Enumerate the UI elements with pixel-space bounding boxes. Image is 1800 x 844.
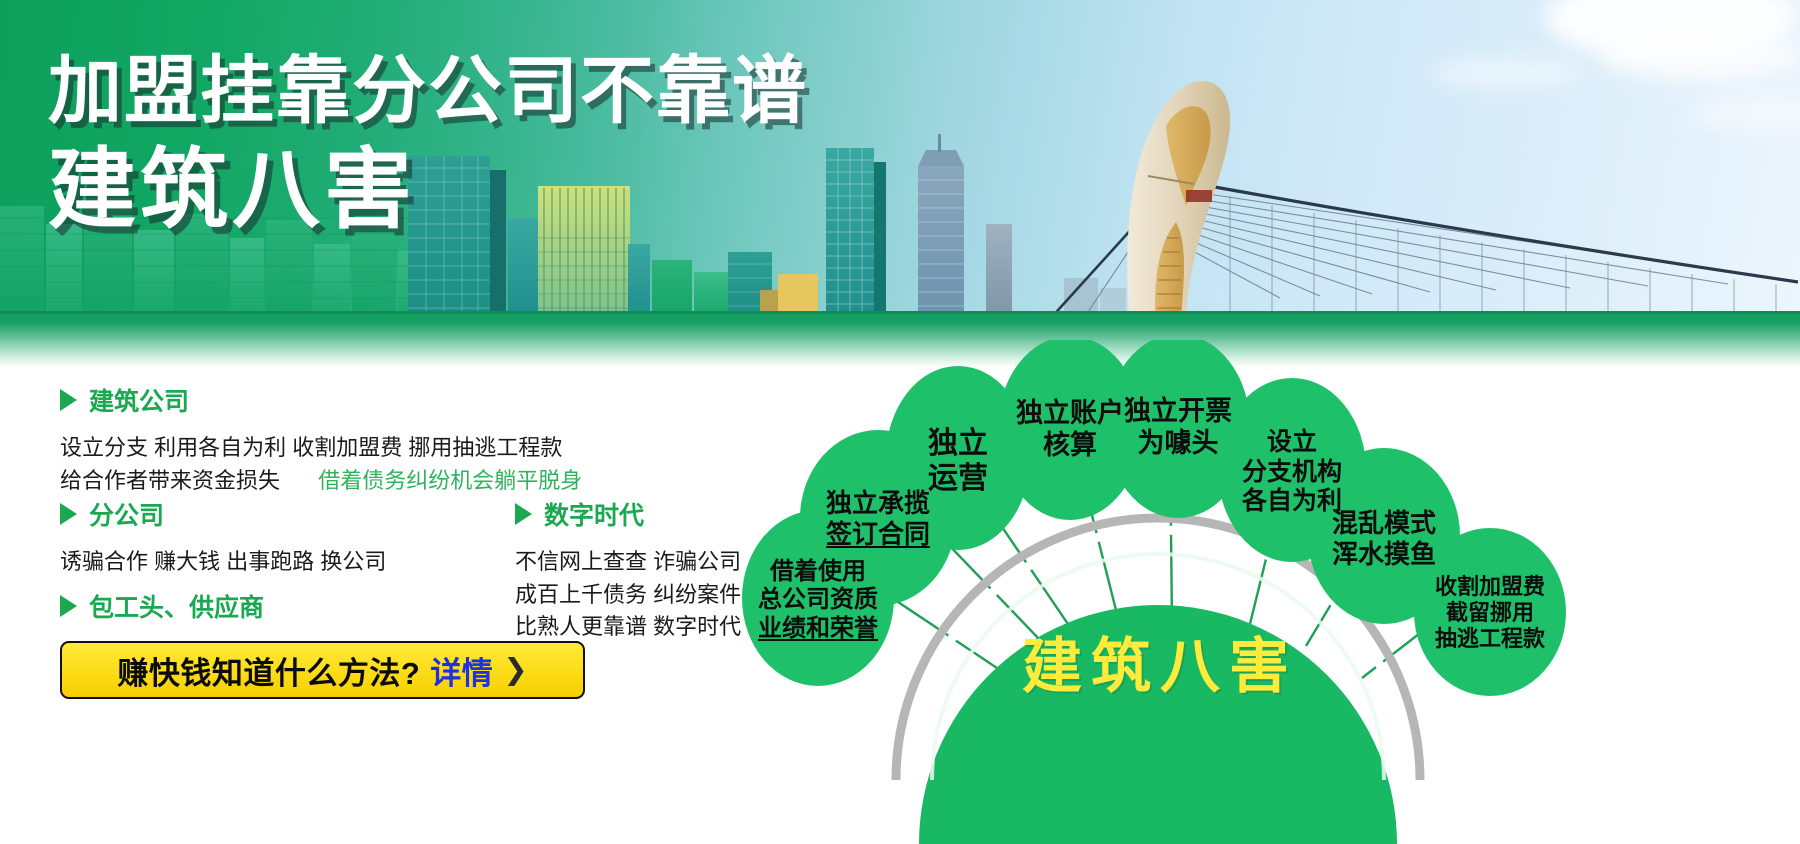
cta-link-label[interactable]: 详情 [430, 648, 493, 693]
section-line-highlight: 借着债务纠纷机会躺平脱身 [318, 468, 582, 493]
eight-harms-diagram: 借着使用 总公司资质 业绩和荣誉 独立承揽 签订合同 独立 运营 独立账户 核算… [700, 340, 1800, 844]
section-line-text: 给合作者带来资金损失 [60, 468, 280, 493]
section-title: 数字时代 [544, 496, 644, 532]
bubble-shape [1414, 528, 1566, 696]
section-title: 包工头、供应商 [89, 588, 264, 624]
details-cta-button[interactable]: 赚快钱知道什么方法? 详情 ❯ [60, 641, 585, 699]
headline-line-1: 加盟挂靠分公司不靠谱 [48, 54, 808, 128]
section-line: 诱骗合作 赚大钱 出事跑路 换公司 [60, 546, 386, 579]
dome-center-label: 建筑八害 [950, 618, 1370, 705]
triangle-bullet-icon [60, 595, 77, 617]
triangle-bullet-icon [60, 503, 77, 525]
section-heading: 包工头、供应商 [60, 588, 402, 624]
chevron-right-icon: ❯ [503, 656, 527, 685]
section-heading: 建筑公司 [60, 382, 582, 418]
section-body: 设立分支 利用各自为利 收割加盟费 挪用抽逃工程款 给合作者带来资金损失 借着债… [60, 432, 582, 497]
triangle-bullet-icon [515, 503, 532, 525]
headline-line-2: 建筑八害 [48, 146, 808, 234]
triangle-bullet-icon [60, 389, 77, 411]
diagram-svg [700, 340, 1800, 844]
section-heading: 分公司 [60, 496, 386, 532]
section-title: 分公司 [89, 496, 164, 532]
poster-root: 加盟挂靠分公司不靠谱 建筑八害 建筑公司 设立分支 利用各自为利 收割加盟费 挪… [0, 0, 1800, 844]
bridge-photo-illustration [980, 30, 1800, 330]
section-line: 给合作者带来资金损失 借着债务纠纷机会躺平脱身 [60, 465, 582, 498]
section-branch-company: 分公司 诱骗合作 赚大钱 出事跑路 换公司 [60, 496, 386, 579]
section-body: 诱骗合作 赚大钱 出事跑路 换公司 [60, 546, 386, 579]
left-content-panel: 建筑公司 设立分支 利用各自为利 收割加盟费 挪用抽逃工程款 给合作者带来资金损… [0, 368, 800, 844]
page-title: 加盟挂靠分公司不靠谱 建筑八害 [48, 54, 808, 234]
bridge-svg [980, 30, 1800, 330]
cta-question-label: 赚快钱知道什么方法? [117, 648, 420, 693]
section-title: 建筑公司 [89, 382, 189, 418]
hero-banner: 加盟挂靠分公司不靠谱 建筑八害 [0, 0, 1800, 368]
section-construction-company: 建筑公司 设立分支 利用各自为利 收割加盟费 挪用抽逃工程款 给合作者带来资金损… [60, 382, 582, 497]
section-line: 设立分支 利用各自为利 收割加盟费 挪用抽逃工程款 [60, 432, 582, 465]
